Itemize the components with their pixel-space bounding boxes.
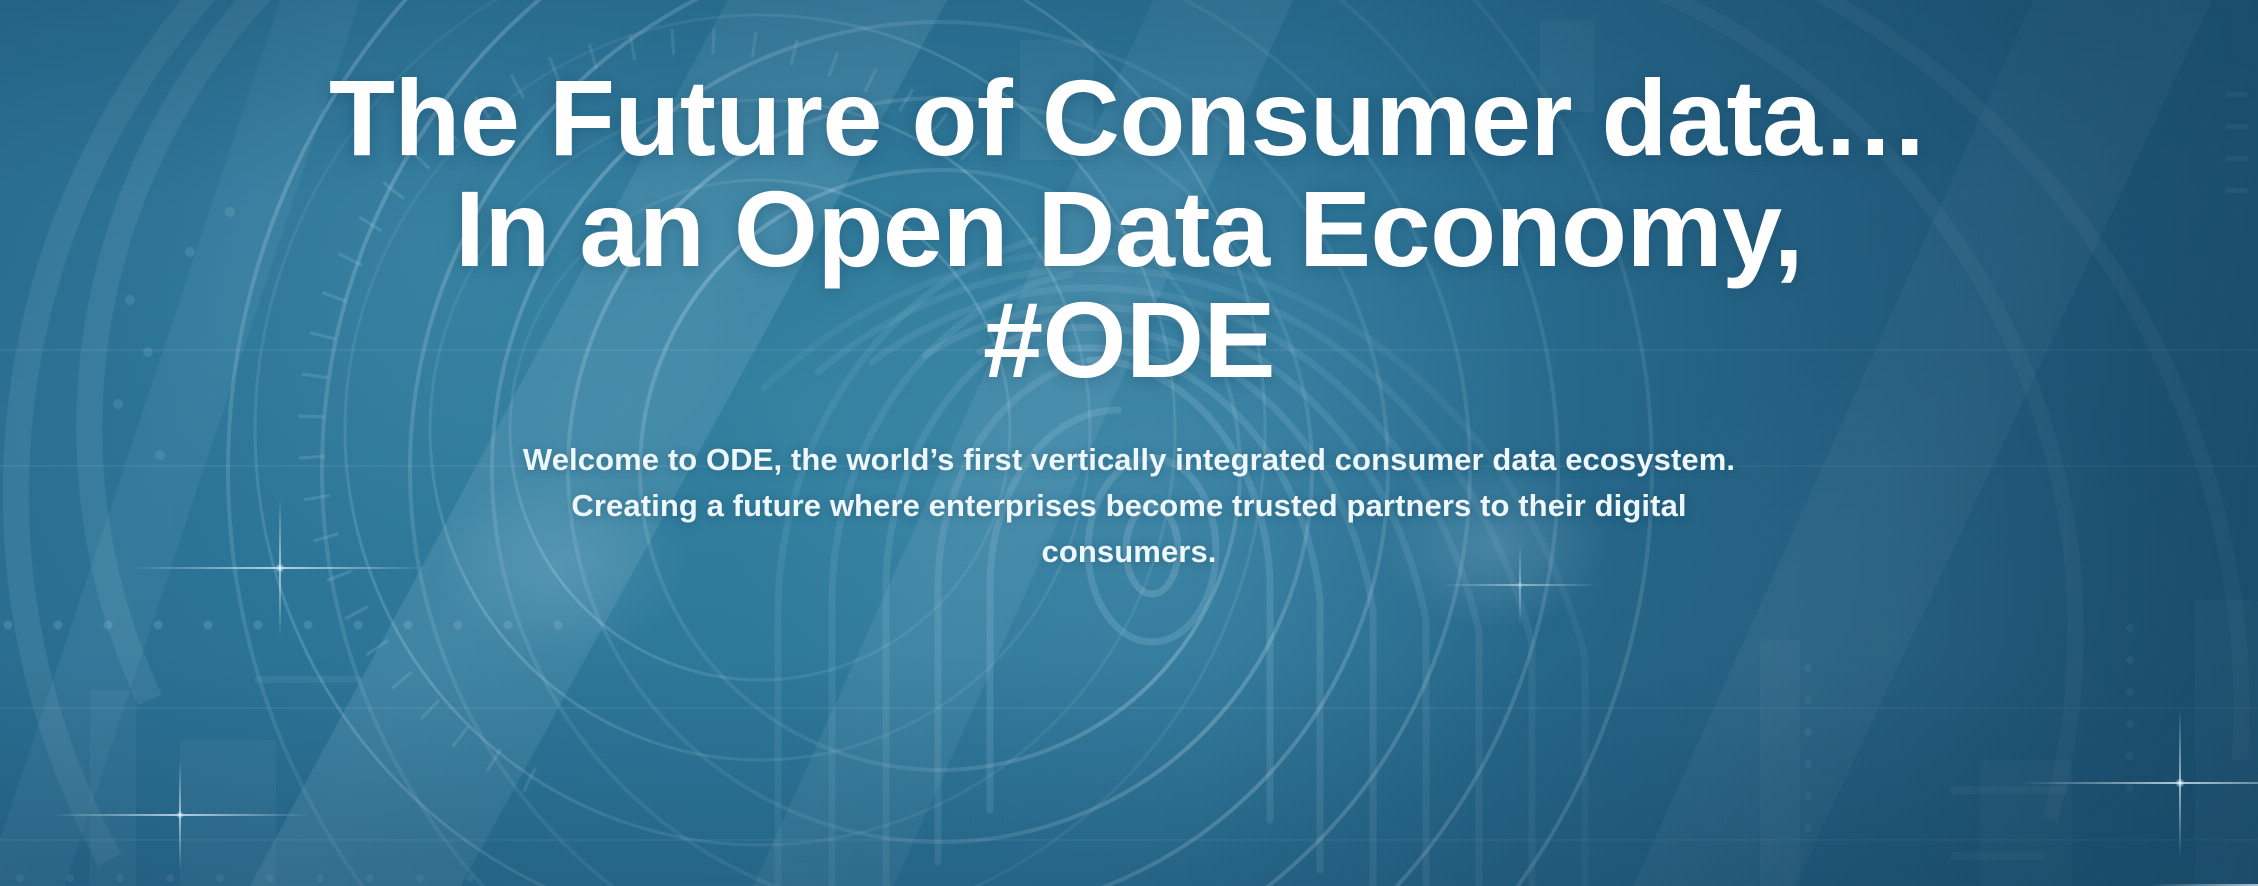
subcopy-line-1: Welcome to ODE, the world’s first vertic… — [474, 437, 1784, 483]
subcopy-line-2: Creating a future where enterprises beco… — [474, 483, 1784, 529]
hero-banner: The Future of Consumer data… In an Open … — [0, 0, 2258, 886]
headline-line-1: The Future of Consumer data… — [39, 62, 2219, 173]
headline-line-2: In an Open Data Economy, — [39, 173, 2219, 284]
page-title: The Future of Consumer data… In an Open … — [39, 62, 2219, 395]
hero-content: The Future of Consumer data… In an Open … — [0, 0, 2258, 886]
hero-subcopy: Welcome to ODE, the world’s first vertic… — [474, 437, 1784, 575]
headline-line-3: #ODE — [39, 284, 2219, 395]
subcopy-line-3: consumers. — [474, 529, 1784, 575]
